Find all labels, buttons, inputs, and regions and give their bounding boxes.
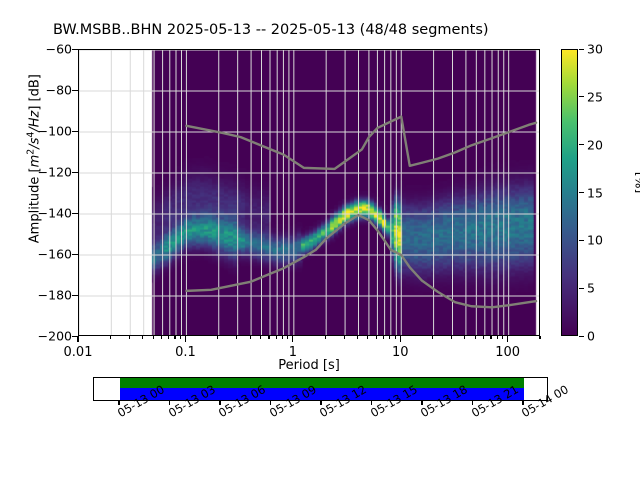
y-tick-mark bbox=[72, 295, 78, 296]
y-axis-title: Amplitude [m2/s4/Hz] [dB] bbox=[25, 29, 42, 289]
x-minor-tick-mark bbox=[432, 336, 433, 339]
x-minor-tick-mark bbox=[236, 336, 237, 339]
x-minor-tick-mark bbox=[142, 336, 143, 339]
x-tick-label: 0.1 bbox=[175, 345, 196, 360]
x-minor-tick-mark bbox=[168, 336, 169, 339]
x-minor-tick-mark bbox=[153, 336, 154, 339]
x-minor-tick-mark bbox=[325, 336, 326, 339]
x-minor-tick-mark bbox=[483, 336, 484, 339]
ppsd-plot-area bbox=[79, 50, 539, 335]
y-tick-label: −160 bbox=[38, 247, 72, 262]
y-tick-mark bbox=[72, 90, 78, 91]
x-minor-tick-mark bbox=[376, 336, 377, 339]
colorbar-tick-mark bbox=[579, 49, 584, 50]
x-minor-tick-mark bbox=[110, 336, 111, 339]
y-tick-mark bbox=[72, 49, 78, 50]
colorbar-tick-mark bbox=[579, 192, 584, 193]
x-minor-tick-mark bbox=[539, 336, 540, 339]
y-tick-label: −180 bbox=[38, 288, 72, 303]
x-minor-tick-mark bbox=[174, 336, 175, 339]
colorbar-tick-label: 10 bbox=[587, 233, 603, 248]
x-minor-tick-mark bbox=[287, 336, 288, 339]
y-tick-mark bbox=[72, 254, 78, 255]
y-tick-mark bbox=[72, 172, 78, 173]
colorbar-tick-mark bbox=[579, 288, 584, 289]
x-tick-mark bbox=[292, 336, 293, 342]
x-minor-tick-mark bbox=[464, 336, 465, 339]
colorbar-tick-mark bbox=[579, 144, 584, 145]
x-minor-tick-mark bbox=[367, 336, 368, 339]
colorbar-tick-label: 30 bbox=[587, 42, 603, 57]
x-minor-tick-mark bbox=[497, 336, 498, 339]
x-minor-tick-mark bbox=[357, 336, 358, 339]
colorbar-tick-label: 15 bbox=[587, 185, 603, 200]
y-tick-mark bbox=[72, 213, 78, 214]
ppsd-plot-axes bbox=[78, 49, 540, 336]
x-minor-tick-mark bbox=[250, 336, 251, 339]
y-tick-mark bbox=[72, 131, 78, 132]
x-minor-tick-mark bbox=[383, 336, 384, 339]
x-minor-tick-mark bbox=[502, 336, 503, 339]
x-tick-mark bbox=[507, 336, 508, 342]
y-tick-label: −100 bbox=[38, 124, 72, 139]
x-minor-tick-mark bbox=[389, 336, 390, 339]
colorbar-tick-label: 0 bbox=[587, 329, 595, 344]
x-tick-mark bbox=[400, 336, 401, 342]
x-minor-tick-mark bbox=[395, 336, 396, 339]
x-minor-tick-mark bbox=[282, 336, 283, 339]
colorbar-tick-mark bbox=[579, 336, 584, 337]
x-tick-label: 0.01 bbox=[64, 345, 93, 360]
noise-model-lines bbox=[79, 50, 539, 335]
x-minor-tick-mark bbox=[268, 336, 269, 339]
x-tick-mark bbox=[77, 336, 78, 342]
colorbar bbox=[561, 49, 578, 336]
x-minor-tick-mark bbox=[129, 336, 130, 339]
x-tick-mark bbox=[185, 336, 186, 342]
x-tick-label: 10 bbox=[392, 345, 409, 360]
ppsd-figure: BW.MSBB..BHN 2025-05-13 -- 2025-05-13 (4… bbox=[0, 0, 640, 480]
x-minor-tick-mark bbox=[276, 336, 277, 339]
colorbar-tick-mark bbox=[579, 96, 584, 97]
y-tick-label: −200 bbox=[38, 329, 72, 344]
y-tick-label: −140 bbox=[38, 206, 72, 221]
y-tick-label: −80 bbox=[46, 83, 72, 98]
colorbar-tick-label: 5 bbox=[587, 281, 595, 296]
colorbar-tick-label: 25 bbox=[587, 89, 603, 104]
x-minor-tick-mark bbox=[161, 336, 162, 339]
page-title: BW.MSBB..BHN 2025-05-13 -- 2025-05-13 (4… bbox=[53, 22, 489, 38]
y-tick-label: −60 bbox=[46, 42, 72, 57]
x-minor-tick-mark bbox=[475, 336, 476, 339]
x-minor-tick-mark bbox=[344, 336, 345, 339]
y-tick-label: −120 bbox=[38, 165, 72, 180]
x-minor-tick-mark bbox=[180, 336, 181, 339]
x-axis-title: Period [s] bbox=[278, 358, 340, 373]
x-minor-tick-mark bbox=[490, 336, 491, 339]
x-minor-tick-mark bbox=[217, 336, 218, 339]
colorbar-title: [%] bbox=[633, 143, 640, 223]
x-tick-label: 100 bbox=[495, 345, 520, 360]
x-minor-tick-mark bbox=[451, 336, 452, 339]
colorbar-tick-label: 20 bbox=[587, 137, 603, 152]
colorbar-tick-mark bbox=[579, 240, 584, 241]
x-minor-tick-mark bbox=[260, 336, 261, 339]
